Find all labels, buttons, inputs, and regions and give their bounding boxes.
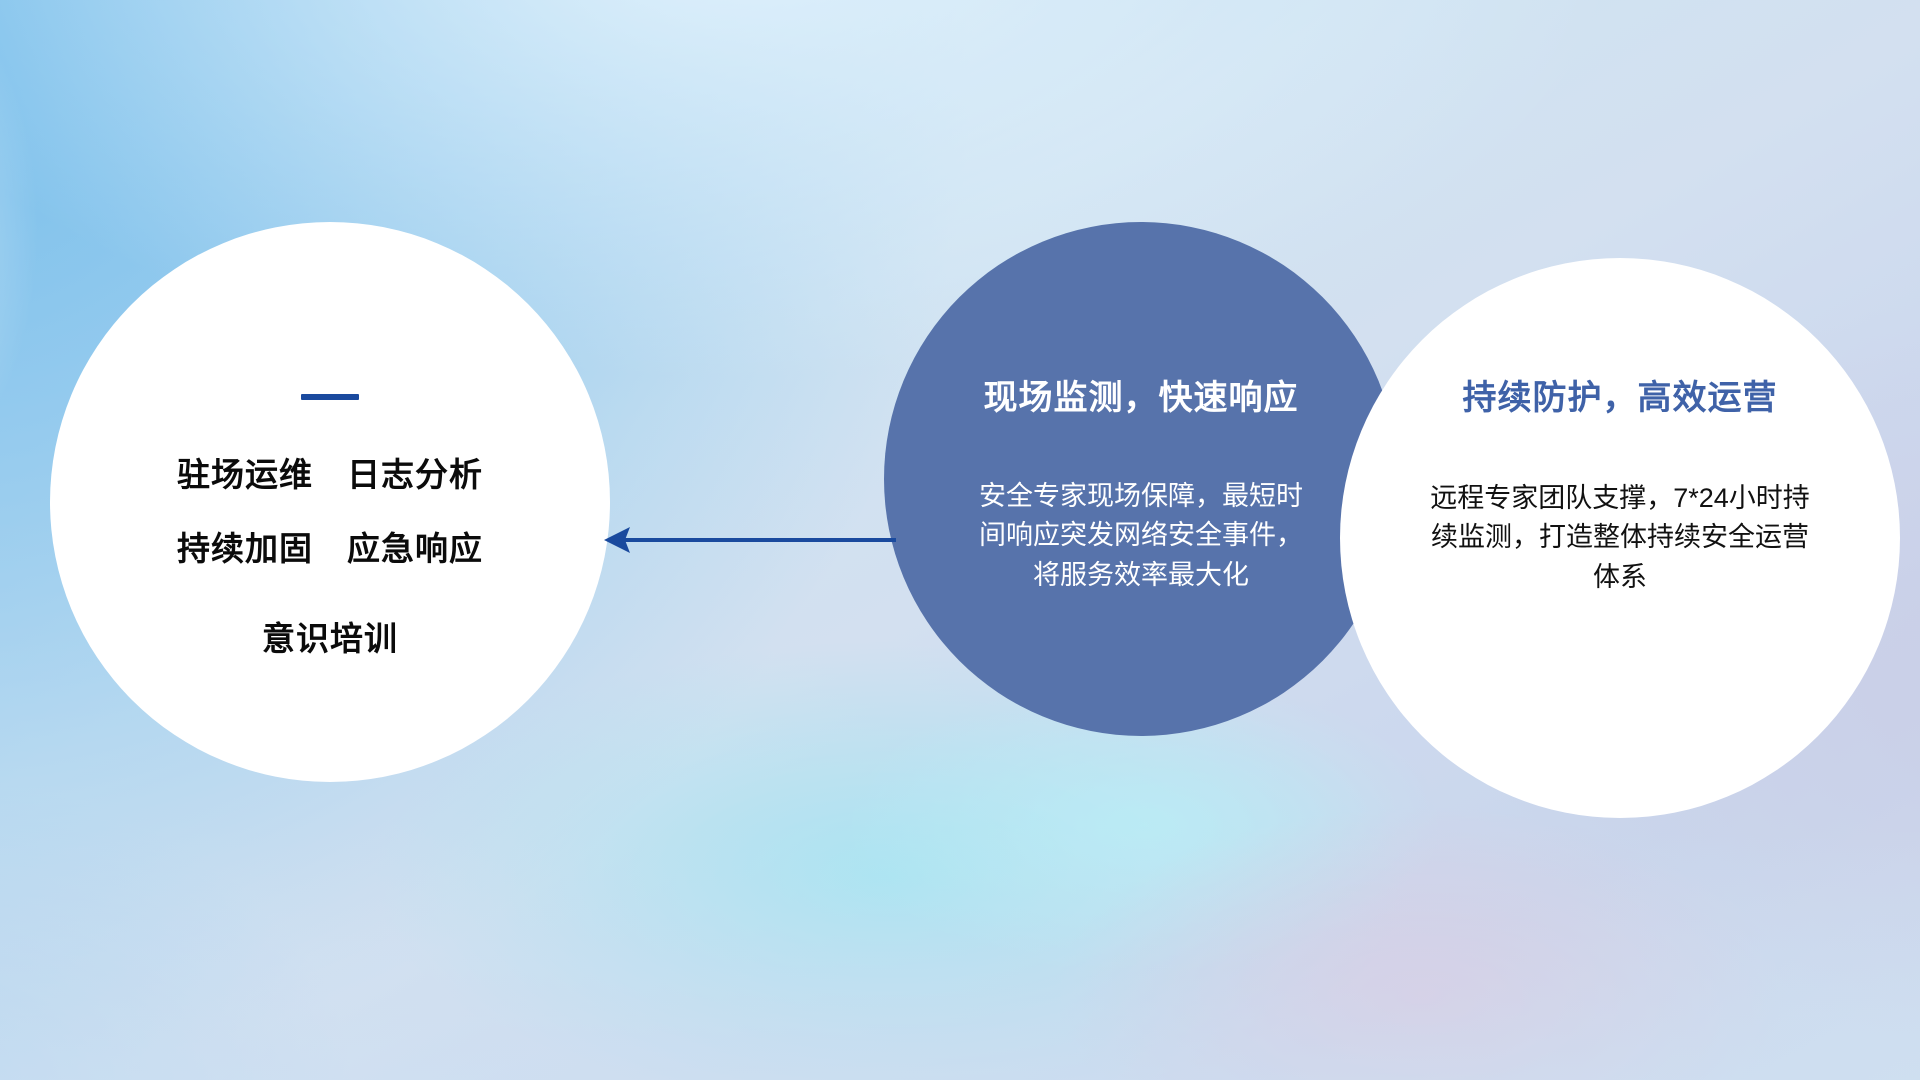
service-tag-row: 持续加固 应急响应 xyxy=(177,522,483,570)
continuous-protection-title: 持续防护，高效运营 xyxy=(1463,370,1778,419)
service-tag-row: 意识培训 xyxy=(262,612,398,660)
service-tags-content: 驻场运维 日志分析 持续加固 应急响应 意识培训 xyxy=(50,222,610,660)
onsite-monitoring-circle: 现场监测，快速响应 安全专家现场保障，最短时间响应突发网络安全事件，将服务效率最… xyxy=(884,222,1398,736)
service-tag-list: 驻场运维 日志分析 持续加固 应急响应 意识培训 xyxy=(177,448,483,660)
service-tag: 驻场运维 xyxy=(177,448,313,496)
onsite-monitoring-content: 现场监测，快速响应 安全专家现场保障，最短时间响应突发网络安全事件，将服务效率最… xyxy=(884,222,1398,595)
continuous-protection-content: 持续防护，高效运营 远程专家团队支撑，7*24小时持续监测，打造整体持续安全运营… xyxy=(1340,258,1900,597)
service-tags-circle: 驻场运维 日志分析 持续加固 应急响应 意识培训 xyxy=(50,222,610,782)
accent-divider-icon xyxy=(301,394,359,400)
service-tag: 应急响应 xyxy=(347,522,483,570)
flow-arrow-left-icon xyxy=(600,518,900,562)
service-tag: 日志分析 xyxy=(347,448,483,496)
onsite-monitoring-title: 现场监测，快速响应 xyxy=(984,370,1299,419)
service-tag-row: 驻场运维 日志分析 xyxy=(177,448,483,496)
onsite-monitoring-body: 安全专家现场保障，最短时间响应突发网络安全事件，将服务效率最大化 xyxy=(976,477,1306,595)
slide-canvas: 驻场运维 日志分析 持续加固 应急响应 意识培训 现场监测，快速响应 安全专家现… xyxy=(0,0,1920,1080)
continuous-protection-circle: 持续防护，高效运营 远程专家团队支撑，7*24小时持续监测，打造整体持续安全运营… xyxy=(1340,258,1900,818)
continuous-protection-body: 远程专家团队支撑，7*24小时持续监测，打造整体持续安全运营体系 xyxy=(1420,479,1820,597)
service-tag: 意识培训 xyxy=(262,612,398,660)
service-tag: 持续加固 xyxy=(177,522,313,570)
